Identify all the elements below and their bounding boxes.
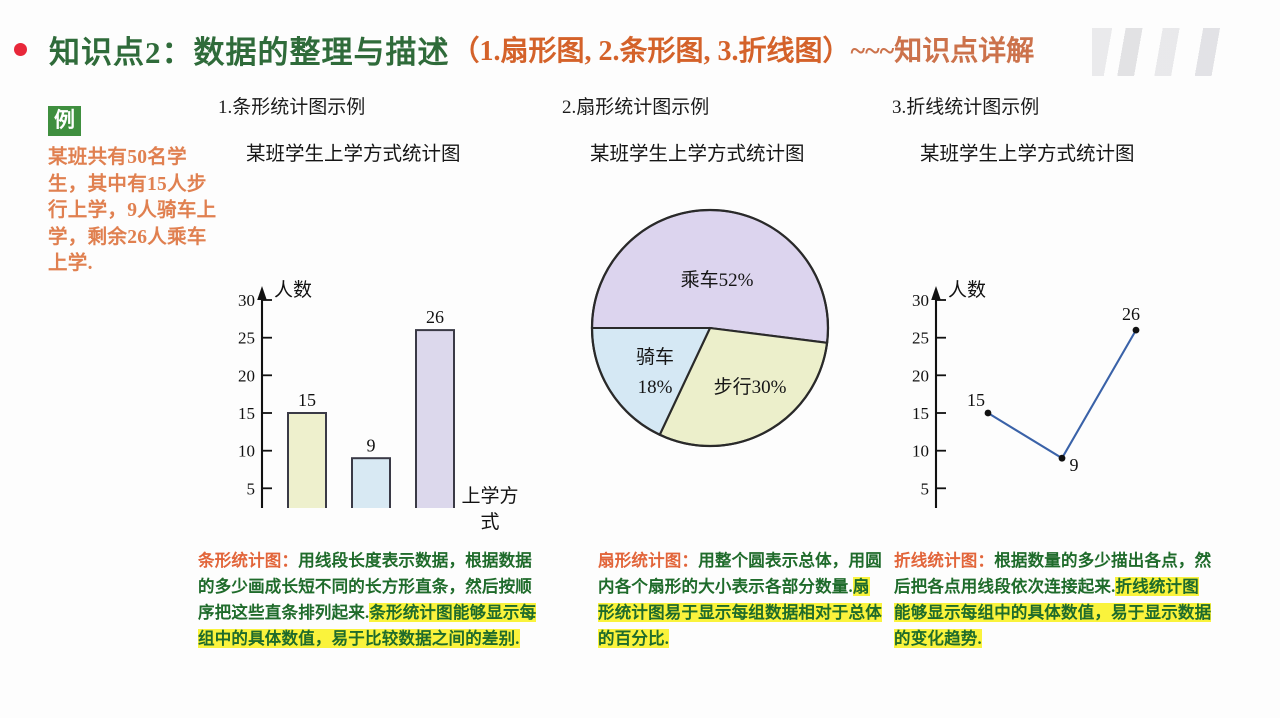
pie-chart-figure: 乘车52% 步行30% 骑车 18%	[562, 178, 892, 508]
line-chart-panel: 3.折线统计图示例 某班学生上学方式统计图 30 25 20 15 10 5 0…	[892, 92, 1232, 502]
line-value-bike: 9	[1070, 455, 1079, 475]
bar-yaxis-label: 人数	[274, 279, 312, 301]
bar-bike	[352, 458, 390, 508]
bullet-icon	[14, 43, 27, 56]
note-pie-term: 扇形统计图：	[598, 551, 698, 570]
bar-ytick-30: 30	[238, 291, 255, 310]
line-ytick-10: 10	[912, 442, 929, 461]
line-point-ride	[1133, 327, 1140, 334]
line-yaxis-label: 人数	[948, 279, 986, 301]
line-ytick-5: 5	[921, 479, 930, 498]
example-badge: 例	[48, 106, 81, 136]
example-text: 某班共有50名学生，其中有15人步行上学，9人骑车上学，剩余26人乘车上学.	[48, 145, 224, 278]
line-value-ride: 26	[1122, 304, 1140, 324]
bar-ytick-15: 15	[238, 404, 255, 423]
bar-ytick-5: 5	[247, 479, 256, 498]
line-ytick-25: 25	[912, 329, 929, 348]
slide-title-row: 知识点2：数据的整理与描述 （1.扇形图, 2.条形图, 3.折线图） ~~~知…	[0, 22, 1280, 76]
pie-chart-title: 某班学生上学方式统计图	[590, 137, 892, 166]
line-chart-figure: 30 25 20 15 10 5 0 人数 15 9 26 步行 骑车 乘车 上…	[892, 178, 1232, 508]
line-ytick-20: 20	[912, 366, 929, 385]
line-point-bike	[1059, 455, 1066, 462]
bar-walk	[288, 413, 326, 508]
pie-label-bike: 骑车	[636, 346, 674, 368]
line-point-walk	[985, 410, 992, 417]
bar-xaxis-label: 上学方式	[461, 484, 519, 536]
bar-value-walk: 15	[298, 390, 316, 410]
note-bar-chart: 条形统计图：用线段长度表示数据，根据数据的多少画成长短不同的长方形直条，然后按顺…	[198, 548, 548, 652]
watermark-overlay	[1092, 28, 1252, 76]
pie-panel-heading: 2.扇形统计图示例	[562, 92, 892, 119]
line-chart-title: 某班学生上学方式统计图	[920, 137, 1232, 166]
bar-ytick-25: 25	[238, 329, 255, 348]
pie-label-ride: 乘车52%	[681, 269, 754, 291]
bar-chart-title: 某班学生上学方式统计图	[246, 137, 548, 166]
bar-ytick-20: 20	[238, 366, 255, 385]
pie-chart-panel: 2.扇形统计图示例 某班学生上学方式统计图 乘车52% 步行30% 骑车 18%	[562, 92, 892, 502]
bar-panel-heading: 1.条形统计图示例	[218, 92, 548, 119]
line-ytick-15: 15	[912, 404, 929, 423]
pie-label-walk: 步行30%	[714, 376, 787, 398]
note-line-term: 折线统计图：	[894, 551, 994, 570]
line-panel-heading: 3.折线统计图示例	[892, 92, 1232, 119]
bar-value-bike: 9	[367, 436, 376, 456]
bar-ytick-10: 10	[238, 442, 255, 461]
example-block: 例 某班共有50名学生，其中有15人步行上学，9人骑车上学，剩余26人乘车上学.	[48, 106, 224, 278]
page-title: 知识点2：数据的整理与描述	[49, 27, 450, 72]
bar-chart-panel: 1.条形统计图示例 某班学生上学方式统计图 30 25 20 15 10 5 0…	[218, 92, 548, 502]
line-value-walk: 15	[967, 390, 985, 410]
page-title-tail: ~~~知识点详解	[851, 29, 1035, 69]
line-series-path	[988, 330, 1136, 458]
note-line-chart: 折线统计图：根据数量的多少描出各点，然后把各点用线段依次连接起来.折线统计图能够…	[894, 548, 1214, 652]
note-bar-term: 条形统计图：	[198, 551, 298, 570]
bar-chart-figure: 30 25 20 15 10 5 0 人数 15 9 26 步行 骑车 乘车	[218, 178, 548, 508]
page-title-parenthetical: （1.扇形图, 2.条形图, 3.折线图）	[452, 29, 851, 69]
note-pie-chart: 扇形统计图：用整个圆表示总体，用圆内各个扇形的大小表示各部分数量.扇形统计图易于…	[598, 548, 882, 652]
bar-ride	[416, 330, 454, 508]
pie-label-bike-percent: 18%	[638, 377, 673, 398]
bar-value-ride: 26	[426, 307, 444, 327]
line-ytick-30: 30	[912, 291, 929, 310]
